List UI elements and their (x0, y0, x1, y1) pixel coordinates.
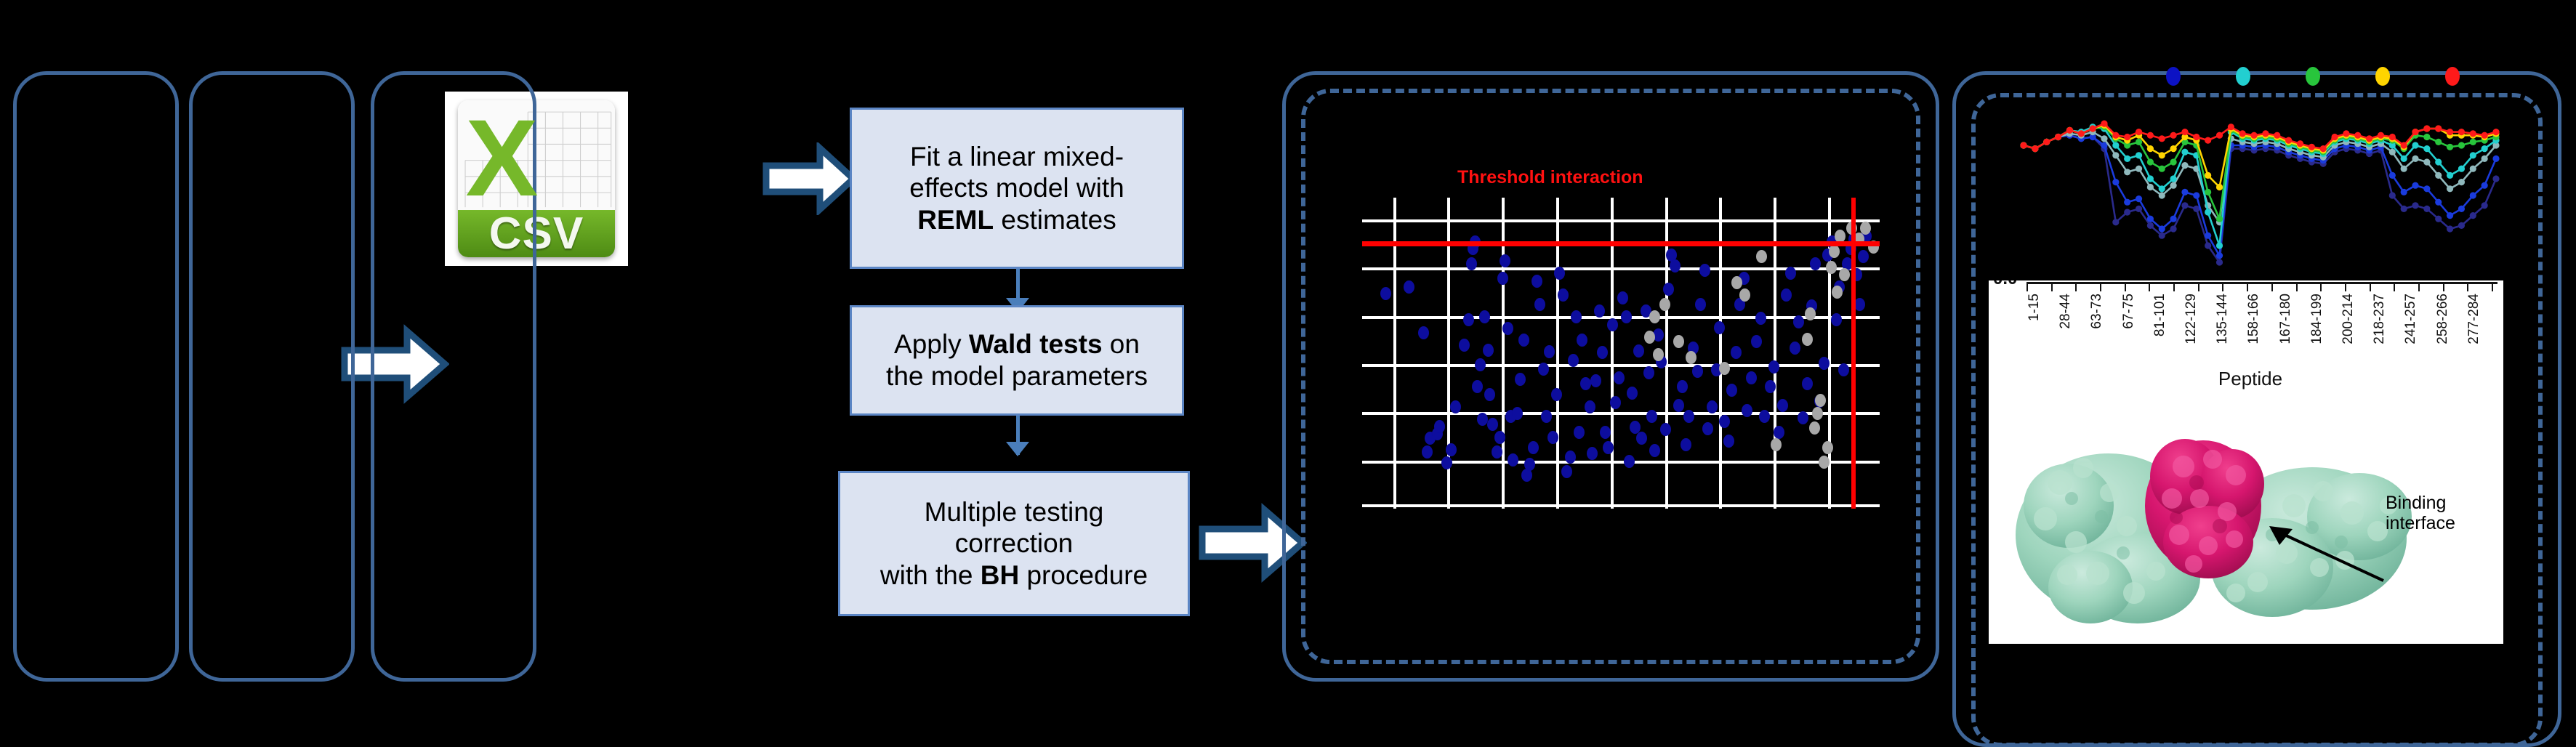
scatter-point (1422, 445, 1433, 459)
series-marker (2159, 135, 2165, 142)
series-marker (2181, 149, 2188, 156)
scatter-point (1627, 387, 1638, 400)
scatter-point (1500, 254, 1510, 267)
scatter-point (1663, 283, 1674, 296)
scatter-point (1528, 441, 1539, 454)
scatter-point (1512, 407, 1523, 420)
scatter-point (1484, 388, 1495, 401)
step-line: Fit a linear mixed- (909, 141, 1124, 173)
scatter-point (1805, 307, 1816, 320)
scatter-point (1649, 310, 1660, 323)
series-marker (2228, 124, 2234, 130)
scatter-point (1568, 354, 1579, 367)
csv-x-letter: X (465, 103, 538, 212)
series-marker (2470, 139, 2476, 145)
results-white-card: 0.0 1-1528-4463-7367-7581-101122-129135-… (1989, 280, 2503, 644)
series-marker (2354, 132, 2361, 139)
x-axis-tick (2125, 282, 2126, 291)
series-marker (2435, 125, 2442, 132)
series-marker (2447, 144, 2453, 150)
step-line: correction (880, 528, 1148, 560)
scatter-title: Threshold interaction (1457, 167, 1643, 188)
series-marker (2401, 206, 2407, 212)
binding-interface-annotation: Binding interface (2386, 493, 2503, 533)
scatter-point (1670, 259, 1681, 272)
series-marker (2435, 139, 2442, 145)
scatter-point (1746, 371, 1757, 384)
series-marker (2458, 206, 2465, 212)
series-marker (2366, 135, 2372, 142)
step-line: Multiple testing (880, 496, 1148, 528)
peptide-chart-svg (2009, 102, 2511, 282)
series-marker (2205, 209, 2211, 215)
peptide-tick-label: 184-199 (2309, 294, 2340, 344)
threshold-scatter: Threshold interaction Threshold state (1330, 153, 1890, 516)
series-marker (2447, 225, 2453, 232)
scatter-point (1554, 267, 1565, 280)
scatter-point (1790, 342, 1800, 355)
scatter-point (1590, 374, 1601, 387)
peptide-tick-label: 258-266 (2435, 294, 2466, 344)
scatter-point (1450, 400, 1461, 413)
series-marker (2401, 142, 2407, 148)
step-line: effects model with (909, 172, 1124, 204)
grid-line-horizontal (1362, 364, 1880, 367)
scatter-point (1508, 453, 1518, 467)
series-marker (2447, 172, 2453, 179)
peptide-tick-label: 167-180 (2278, 294, 2309, 344)
series-marker (2181, 162, 2188, 169)
scatter-point (1798, 411, 1808, 424)
series-marker (2470, 212, 2476, 219)
series-marker (2435, 199, 2442, 206)
legend-dot-blue (2166, 67, 2181, 86)
scatter-point (1802, 333, 1813, 346)
grid-line-horizontal (1362, 267, 1880, 270)
step-line: REML estimates (909, 204, 1124, 236)
x-axis-tick (2051, 282, 2053, 291)
scatter-point (1446, 443, 1457, 456)
scatter-point (1644, 331, 1655, 344)
grid-line-horizontal (1362, 461, 1880, 464)
scatter-point (1707, 400, 1718, 413)
series-marker (2239, 130, 2246, 137)
x-axis-tick (2296, 282, 2298, 291)
x-axis-tick (2198, 282, 2199, 291)
scatter-point (1571, 310, 1582, 323)
scatter-point (1594, 304, 1605, 318)
scatter-point (1822, 441, 1833, 454)
scatter-point (1487, 418, 1498, 431)
series-marker (2159, 166, 2165, 172)
scatter-point (1614, 371, 1625, 384)
scatter-point (1434, 420, 1445, 433)
legend-dot-cyan (2236, 67, 2250, 86)
series-marker (2331, 134, 2338, 140)
series-marker (2170, 158, 2176, 165)
x-axis-tick (2492, 282, 2493, 291)
scatter-point (1819, 456, 1830, 469)
series-marker (2112, 142, 2119, 148)
scatter-point (1492, 445, 1502, 459)
series-marker (2159, 152, 2165, 158)
scatter-point (1742, 404, 1752, 417)
series-marker (2136, 166, 2142, 172)
series-marker (2147, 175, 2154, 182)
scatter-point (1793, 315, 1804, 328)
x-axis-tick (2394, 282, 2395, 291)
series-marker (2423, 125, 2430, 132)
scatter-point (1802, 377, 1813, 390)
series-marker (2435, 158, 2442, 165)
scatter-point (1580, 377, 1591, 390)
x-axis-tick (2173, 282, 2175, 291)
scatter-point (1860, 222, 1871, 235)
peptide-tick-label: 1-15 (2026, 294, 2058, 321)
series-marker (2216, 184, 2223, 190)
series-marker (2423, 145, 2430, 152)
scatter-point (1617, 291, 1628, 304)
scatter-point (1561, 465, 1572, 478)
series-marker (2205, 172, 2211, 179)
series-marker (2055, 134, 2061, 140)
flowchart-canvas: X CSV Fit a linear mixed-effects model w… (0, 0, 2576, 687)
series-marker (2458, 179, 2465, 185)
series-marker (2389, 172, 2396, 179)
series-marker (2159, 185, 2165, 192)
series-line (2024, 135, 2496, 256)
series-marker (2124, 199, 2130, 206)
series-marker (2147, 145, 2154, 152)
scatter-point (1677, 380, 1688, 393)
series-marker (2378, 132, 2384, 139)
step-line: with the BH procedure (880, 560, 1148, 591)
threshold-state-line (1851, 198, 1856, 509)
series-marker (2412, 182, 2418, 189)
series-marker (2170, 182, 2176, 189)
scatter-point (1659, 298, 1670, 311)
peptide-tick-label: 218-237 (2372, 294, 2403, 344)
scatter-point (1777, 399, 1788, 412)
scatter-point (1477, 413, 1488, 426)
series-marker (2159, 192, 2165, 198)
series-marker (2181, 189, 2188, 195)
series-marker (2343, 130, 2349, 137)
scatter-point (1607, 318, 1618, 331)
scatter-point (1723, 435, 1734, 448)
series-marker (2147, 216, 2154, 222)
scatter-point (1726, 384, 1737, 397)
scatter-point (1515, 373, 1526, 386)
scatter-point (1739, 288, 1750, 302)
series-marker (2412, 142, 2418, 148)
scatter-point (1719, 362, 1730, 375)
scatter-point (1558, 288, 1569, 302)
scatter-point (1521, 469, 1532, 482)
x-axis-tick (2100, 282, 2101, 291)
scatter-point (1633, 344, 1644, 358)
series-marker (2205, 189, 2211, 195)
scatter-point (1518, 334, 1529, 347)
series-marker (2101, 135, 2107, 142)
scatter-point (1686, 351, 1696, 364)
step-multiple-testing-text: Multiple testingcorrectionwith the BH pr… (880, 496, 1148, 591)
series-marker (2482, 182, 2488, 189)
scatter-point (1534, 298, 1545, 311)
series-marker (2136, 152, 2142, 158)
series-marker (2205, 137, 2211, 144)
legend-dot-red (2445, 67, 2460, 86)
scatter-point (1585, 400, 1595, 413)
series-marker (2193, 134, 2199, 140)
scatter-point (1854, 298, 1865, 311)
x-axis-tick (2247, 282, 2248, 291)
scatter-point (1466, 257, 1477, 270)
scatter-point (1781, 288, 1792, 302)
peptide-tick-label: 67-75 (2121, 294, 2152, 329)
scatter-point (1597, 346, 1608, 359)
series-marker (2320, 145, 2327, 152)
series-marker (2401, 156, 2407, 162)
series-marker (2020, 142, 2026, 148)
y-axis-zero-label: 0.0 (1993, 280, 2017, 289)
series-marker (2389, 134, 2396, 140)
scatter-point (1653, 348, 1664, 361)
scatter-point (1577, 334, 1587, 347)
x-axis-tick (2370, 282, 2371, 291)
series-marker (2470, 166, 2476, 172)
scatter-point (1765, 380, 1776, 393)
scatter-point (1681, 438, 1691, 451)
series-marker (2458, 222, 2465, 229)
scatter-point (1692, 365, 1703, 378)
x-axis-tick (2149, 282, 2150, 291)
scatter-point (1774, 426, 1784, 439)
x-axis-tick (2443, 282, 2444, 291)
scatter-point (1759, 410, 1770, 423)
scatter-point (1673, 399, 1684, 412)
series-marker (2216, 259, 2223, 265)
scatter-point (1768, 360, 1779, 373)
x-axis-title: Peptide (2098, 368, 2403, 390)
series-marker (2401, 166, 2407, 172)
scatter-point (1475, 358, 1486, 371)
series-marker (2136, 139, 2142, 145)
scatter-point (1649, 444, 1660, 457)
series-marker (2090, 125, 2096, 132)
series-marker (2136, 195, 2142, 202)
scatter-point (1702, 422, 1713, 435)
series-marker (2262, 130, 2269, 137)
peptide-uptake-chart (2009, 102, 2511, 282)
scatter-point (1812, 407, 1823, 420)
peptide-tick-label: 63-73 (2089, 294, 2120, 329)
scatter-point (1531, 275, 1542, 288)
series-marker (2170, 175, 2176, 182)
scatter-point (1544, 345, 1555, 358)
series-marker (2423, 185, 2430, 192)
grid-line-horizontal (1362, 219, 1880, 222)
scatter-point (1829, 245, 1840, 258)
scatter-point (1538, 363, 1549, 376)
input-panel (13, 71, 179, 682)
scatter-point (1459, 339, 1470, 352)
series-marker (2124, 134, 2130, 140)
series-marker (2435, 216, 2442, 222)
series-marker (2147, 222, 2154, 229)
scatter-point (1714, 321, 1725, 334)
series-marker (2170, 216, 2176, 222)
series-marker (2112, 132, 2119, 139)
series-marker (2112, 152, 2119, 158)
series-marker (2205, 242, 2211, 249)
series-marker (2285, 137, 2292, 144)
x-axis-tick (2271, 282, 2273, 291)
x-axis-tick (2222, 282, 2223, 291)
scatter-point (1587, 447, 1598, 460)
step-fit-model[interactable]: Fit a linear mixed-effects model withREM… (850, 108, 1184, 269)
series-marker (2470, 192, 2476, 198)
scatter-point (1418, 326, 1429, 339)
peptide-tick-label: 200-214 (2340, 294, 2372, 344)
series-marker (2147, 158, 2154, 165)
series-marker (2101, 121, 2107, 127)
series-marker (2181, 129, 2188, 135)
series-marker (2124, 209, 2130, 215)
series-marker (2492, 129, 2499, 135)
step-multiple-testing[interactable]: Multiple testingcorrectionwith the BH pr… (838, 471, 1190, 616)
peptide-tick-label: 81-101 (2152, 294, 2183, 336)
scatter-point (1731, 346, 1742, 359)
x-axis-tick (2418, 282, 2420, 291)
series-marker (2482, 156, 2488, 162)
scatter-point (1646, 410, 1657, 423)
scatter-point (1574, 426, 1585, 439)
scatter-point (1832, 286, 1843, 299)
series-marker (2216, 242, 2223, 249)
scatter-point (1660, 423, 1671, 436)
scatter-point (1643, 366, 1654, 379)
series-marker (2447, 129, 2453, 135)
scatter-point (1479, 310, 1490, 323)
series-marker (2412, 202, 2418, 209)
series-marker (2043, 139, 2050, 145)
series-marker (2492, 175, 2499, 182)
series-marker (2205, 233, 2211, 239)
series-marker (2309, 144, 2315, 150)
series-marker (2159, 225, 2165, 232)
scatter-point (1785, 267, 1796, 280)
scatter-point (1751, 335, 1762, 348)
scatter-point (1819, 357, 1830, 370)
csv-panel (189, 71, 355, 682)
arrow-csv-to-analysis (762, 142, 858, 215)
series-marker (2112, 219, 2119, 225)
series-line (2024, 127, 2496, 219)
series-marker (2193, 192, 2199, 198)
step-wald-tests-text: Apply Wald tests onthe model parameters (886, 328, 1148, 392)
x-axis-ticks (2026, 282, 2497, 292)
scatter-point (1809, 421, 1820, 435)
scatter-point (1719, 415, 1730, 428)
series-marker (2136, 206, 2142, 212)
series-marker (2170, 132, 2176, 139)
series-marker (2492, 156, 2499, 162)
series-marker (2124, 156, 2130, 162)
series-marker (2389, 192, 2396, 198)
binding-interface-line2: interface (2386, 513, 2503, 533)
peptide-tick-label: 277-284 (2466, 294, 2497, 344)
series-marker (2458, 166, 2465, 172)
series-marker (2482, 202, 2488, 209)
series-marker (2412, 156, 2418, 162)
series-marker (2423, 206, 2430, 212)
series-marker (2482, 145, 2488, 152)
series-marker (2401, 189, 2407, 195)
series-marker (2112, 179, 2119, 185)
legend-dot-green (2306, 67, 2320, 86)
scatter-point (1541, 410, 1552, 423)
series-marker (2470, 152, 2476, 158)
step-fit-model-text: Fit a linear mixed-effects model withREM… (909, 141, 1124, 236)
series-line (2024, 135, 2496, 262)
x-axis-tick (2320, 282, 2322, 291)
series-marker (2458, 142, 2465, 148)
scatter-point (1683, 410, 1694, 423)
peptide-chart-legend (2166, 67, 2471, 93)
series-marker (2066, 127, 2073, 134)
scatter-point (1610, 396, 1621, 409)
scatter-point (1502, 322, 1513, 335)
legend-dot-yellow (2375, 67, 2390, 86)
series-marker (2250, 132, 2257, 139)
scatter-point (1472, 380, 1483, 393)
series-marker (2136, 129, 2142, 135)
series-marker (2297, 140, 2303, 147)
scatter-point (1497, 272, 1508, 285)
scatter-point (1463, 313, 1474, 326)
x-axis-tick (2075, 282, 2077, 291)
series-marker (2389, 149, 2396, 156)
series-marker (2078, 130, 2085, 137)
series-marker (2447, 212, 2453, 219)
scatter-plot-area (1362, 198, 1880, 509)
series-marker (2482, 132, 2488, 139)
scatter-point (1858, 250, 1869, 263)
series-marker (2423, 134, 2430, 140)
scatter-point (1695, 298, 1706, 311)
scatter-point (1815, 394, 1826, 407)
series-marker (2170, 225, 2176, 232)
scatter-point (1600, 426, 1611, 439)
scatter-point (1756, 250, 1767, 263)
grid-line-horizontal (1362, 504, 1880, 507)
scatter-point (1441, 456, 1452, 469)
peptide-tick-label: 28-44 (2058, 294, 2089, 329)
scatter-point (1826, 261, 1837, 274)
scatter-point (1699, 264, 1710, 277)
series-marker (2423, 158, 2430, 165)
scatter-point (1404, 280, 1414, 294)
series-marker (2447, 185, 2453, 192)
series-marker (2458, 129, 2465, 135)
step-wald-tests[interactable]: Apply Wald tests onthe model parameters (850, 305, 1184, 416)
series-marker (2147, 132, 2154, 139)
series-marker (2435, 172, 2442, 179)
scatter-point (1673, 335, 1684, 348)
series-marker (2216, 216, 2223, 222)
scatter-point (1839, 268, 1850, 281)
